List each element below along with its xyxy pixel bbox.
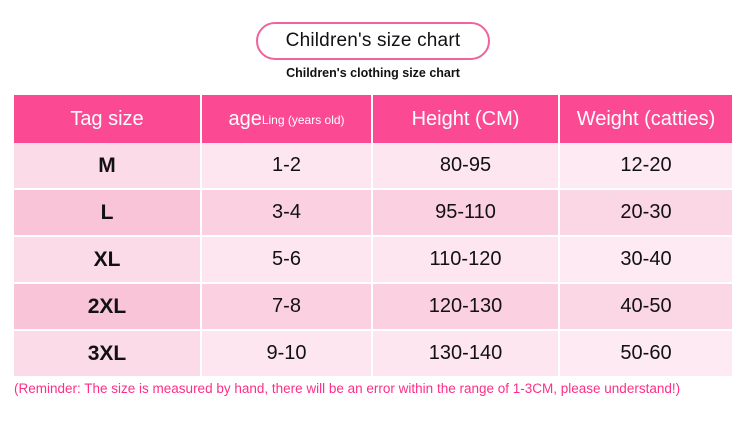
size-table: Tag size ageLing (years old) Height (CM)… [14,95,732,376]
cell-weight: 50-60 [559,330,732,376]
column-header-weight: Weight (catties) [559,95,732,143]
column-header-tag-size: Tag size [14,95,201,143]
cell-age: 5-6 [201,236,372,283]
page-title-pill: Children's size chart [256,22,490,60]
cell-height: 110-120 [372,236,559,283]
cell-height: 130-140 [372,330,559,376]
size-chart-page: Children's size chart Children's clothin… [0,0,746,441]
cell-height: 80-95 [372,143,559,189]
column-header-age-main: age [228,108,261,130]
cell-age: 7-8 [201,283,372,330]
page-subtitle: Children's clothing size chart [0,66,746,80]
cell-age: 3-4 [201,189,372,236]
table-header-row: Tag size ageLing (years old) Height (CM)… [14,95,732,143]
table-row: L 3-4 95-110 20-30 [14,189,732,236]
column-header-age-sub: Ling (years old) [262,113,345,127]
table-row: 2XL 7-8 120-130 40-50 [14,283,732,330]
table-row: M 1-2 80-95 12-20 [14,143,732,189]
cell-weight: 20-30 [559,189,732,236]
cell-weight: 40-50 [559,283,732,330]
cell-weight: 30-40 [559,236,732,283]
cell-tag-size: 3XL [14,330,201,376]
column-header-height: Height (CM) [372,95,559,143]
cell-tag-size: L [14,189,201,236]
cell-tag-size: XL [14,236,201,283]
column-header-age: ageLing (years old) [201,95,372,143]
cell-age: 1-2 [201,143,372,189]
cell-height: 95-110 [372,189,559,236]
cell-tag-size: 2XL [14,283,201,330]
page-title: Children's size chart [286,30,461,52]
cell-height: 120-130 [372,283,559,330]
cell-weight: 12-20 [559,143,732,189]
cell-tag-size: M [14,143,201,189]
measurement-note: (Reminder: The size is measured by hand,… [14,379,732,398]
table-row: XL 5-6 110-120 30-40 [14,236,732,283]
table-row: 3XL 9-10 130-140 50-60 [14,330,732,376]
cell-age: 9-10 [201,330,372,376]
